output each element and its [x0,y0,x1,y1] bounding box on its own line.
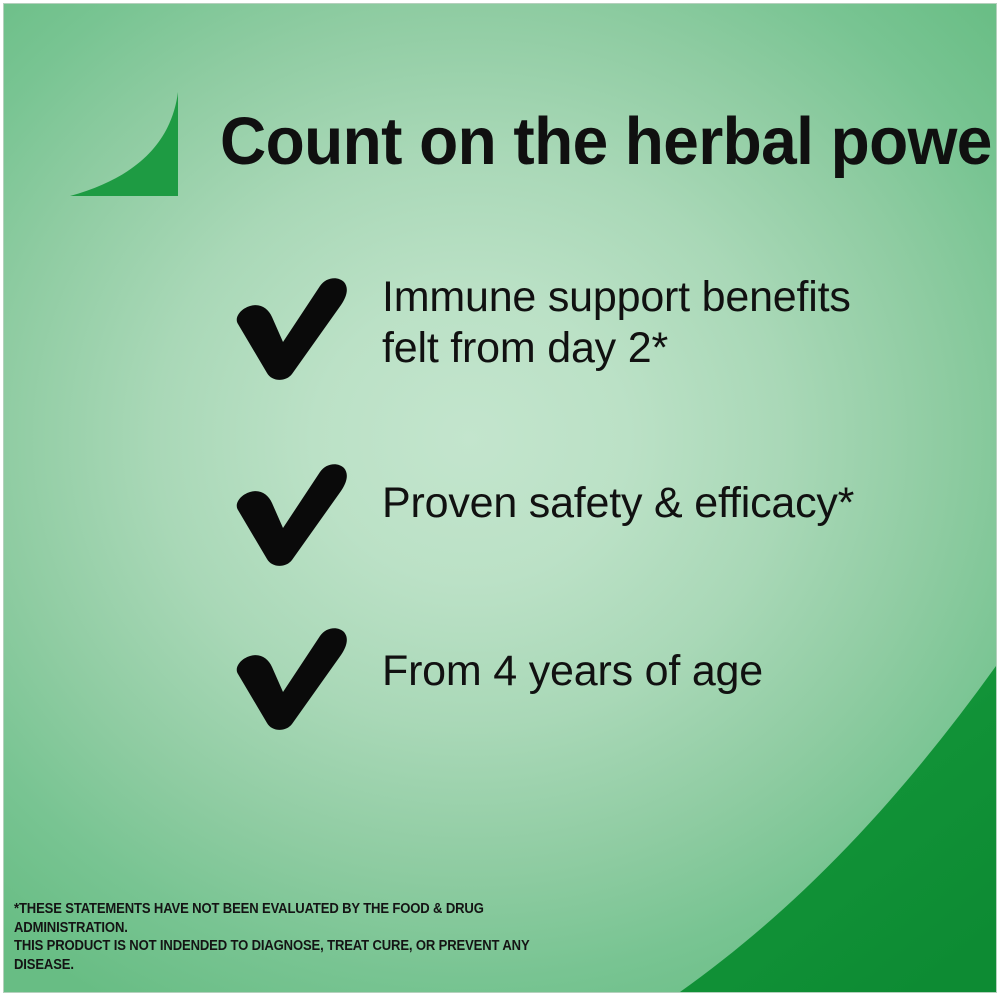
legal-disclaimer: *THESE STATEMENTS HAVE NOT BEEN EVALUATE… [14,900,590,974]
promo-poster: Count on the herbal power of 4 Immune su… [0,0,1000,1000]
list-item-label: From 4 years of age [382,646,942,697]
list-item-label: Immune support benefits felt from day 2* [382,272,942,374]
list-item: Proven safety & efficacy* [228,452,948,572]
checkmark-icon [228,460,350,568]
list-item-label: Proven safety & efficacy* [382,478,942,529]
checkmark-icon [228,274,350,382]
benefits-list: Immune support benefits felt from day 2*… [4,4,996,992]
list-item: Immune support benefits felt from day 2* [228,266,948,386]
checkmark-icon [228,624,350,732]
poster-frame: Count on the herbal power of 4 Immune su… [4,4,996,992]
list-item: From 4 years of age [228,616,948,736]
